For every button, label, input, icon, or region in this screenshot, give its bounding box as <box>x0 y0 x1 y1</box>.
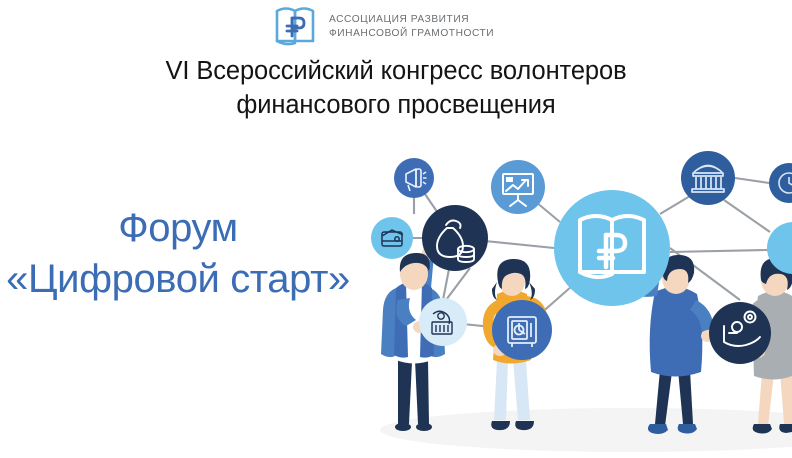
forum-title: Форум «Цифровой старт» <box>0 203 378 305</box>
edge-sky-node <box>767 222 792 274</box>
megaphone-node <box>394 158 434 198</box>
person-blue-jacket-male <box>381 247 445 431</box>
association-logo-text: АССОЦИАЦИЯ РАЗВИТИЯ ФИНАНСОВОЙ ГРАМОТНОС… <box>329 13 494 42</box>
safe-vault-node <box>492 300 552 360</box>
money-bag-node <box>422 205 488 271</box>
poster-canvas: АССОЦИАЦИЯ РАЗВИТИЯ ФИНАНСОВОЙ ГРАМОТНОС… <box>0 0 792 458</box>
hand-coin-node <box>709 302 771 364</box>
central-book-ruble-node <box>554 190 670 306</box>
association-logo: АССОЦИАЦИЯ РАЗВИТИЯ ФИНАНСОВОЙ ГРАМОТНОС… <box>272 5 494 49</box>
headline-line-1: VI Всероссийский конгресс волонтеров <box>0 55 792 89</box>
network-lines <box>392 178 792 368</box>
person-blue-coat-male <box>614 255 715 434</box>
page-title: VI Всероссийский конгресс волонтеров фин… <box>0 55 792 123</box>
floor-shadow <box>380 408 792 452</box>
logo-line-1: АССОЦИАЦИЯ РАЗВИТИЯ <box>329 13 494 27</box>
forum-title-line-1: Форум <box>0 203 378 254</box>
open-book-ruble-logo-icon <box>272 5 318 49</box>
bank-building-node <box>681 151 735 205</box>
clock-node <box>769 163 792 203</box>
presentation-chart-node <box>491 160 545 214</box>
logo-line-2: ФИНАНСОВОЙ ГРАМОТНОСТИ <box>329 27 494 41</box>
person-yellow-top-female <box>483 259 547 430</box>
banknote-node <box>419 298 467 346</box>
forum-title-line-2: «Цифровой старт» <box>0 254 378 305</box>
person-gray-coat-female <box>748 258 792 434</box>
headline-line-2: финансового просвещения <box>0 89 792 123</box>
